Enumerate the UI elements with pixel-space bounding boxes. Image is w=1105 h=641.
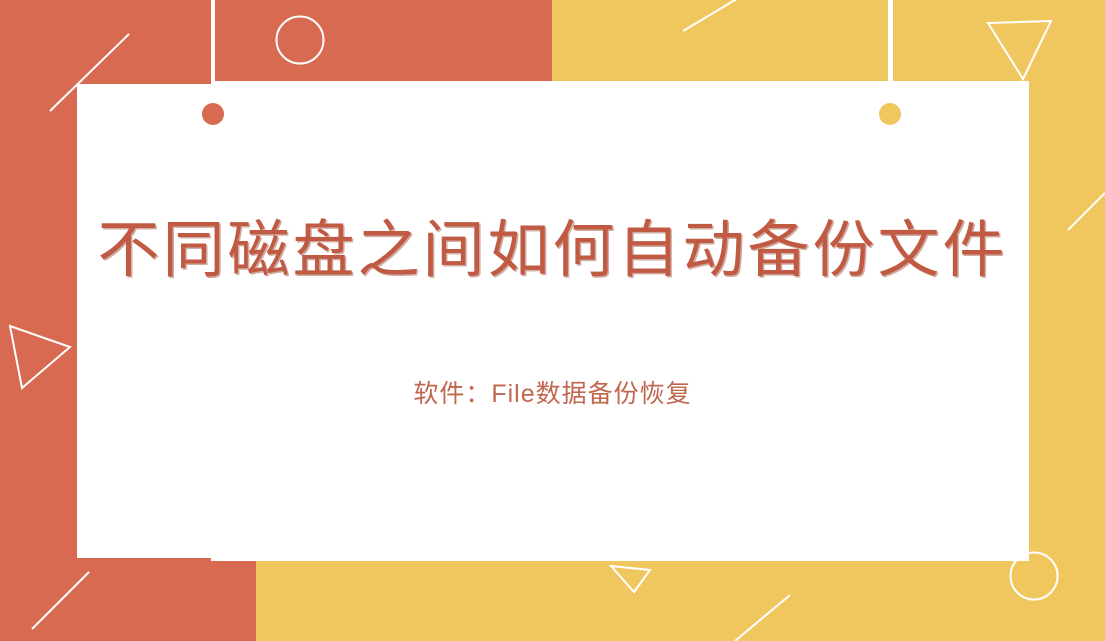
content-card (77, 84, 1028, 558)
background-block-red-top (215, 0, 552, 81)
slide-title: 不同磁盘之间如何自动备份文件 (77, 215, 1028, 286)
slide-subtitle: 软件：File数据备份恢复 (77, 374, 1028, 410)
dot-red-icon (202, 103, 224, 125)
presentation-slide: 不同磁盘之间如何自动备份文件 软件：File数据备份恢复 (0, 0, 1105, 641)
background-block-red-bottom (211, 561, 256, 641)
dot-yellow-icon (879, 103, 901, 125)
background-block-yellow-top-left (552, 0, 888, 81)
background-block-yellow-right (1029, 0, 1105, 641)
background-block-yellow-bottom (256, 561, 1029, 641)
